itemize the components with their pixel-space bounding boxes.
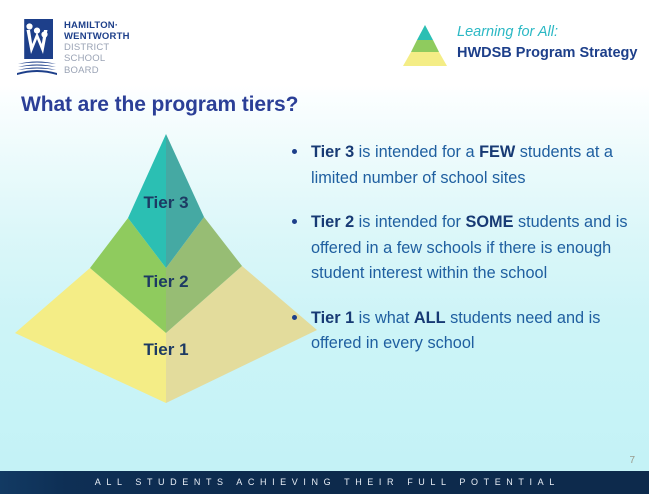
- list-item: Tier 2 is intended for SOME students and…: [288, 210, 640, 287]
- footer-bar: ALL STUDENTS ACHIEVING THEIR FULL POTENT…: [0, 471, 649, 494]
- footer-tagline: ALL STUDENTS ACHIEVING THEIR FULL POTENT…: [0, 471, 649, 494]
- bullet-dot-icon: [292, 149, 297, 154]
- pyramid-icon: [399, 23, 451, 69]
- bullet-emphasis: ALL: [414, 309, 446, 327]
- bullet-dot-icon: [292, 219, 297, 224]
- tier-3-label: Tier 3: [143, 193, 188, 212]
- tier-2-label: Tier 2: [143, 272, 188, 291]
- bullet-text-1: is intended for a: [354, 143, 479, 161]
- logo-sub-line-3: BOARD: [64, 66, 214, 76]
- tier-description-list: Tier 3 is intended for a FEW students at…: [288, 140, 640, 376]
- hwdsb-logo-wordmark: HAMILTON· WENTWORTH DISTRICT SCHOOL BOAR…: [64, 21, 214, 76]
- logo-sub-line-2: SCHOOL: [64, 54, 214, 64]
- slide-number: 7: [629, 455, 635, 466]
- list-item: Tier 3 is intended for a FEW students at…: [288, 140, 640, 191]
- bullet-text-1: is what: [354, 309, 414, 327]
- program-strategy-brand: Learning for All: HWDSB Program Strategy: [399, 20, 639, 74]
- brand-text: Learning for All: HWDSB Program Strategy: [457, 22, 637, 64]
- hwdsb-logo: HAMILTON· WENTWORTH DISTRICT SCHOOL BOAR…: [16, 18, 216, 76]
- brand-tagline: Learning for All:: [457, 22, 637, 43]
- logo-name-line-2: WENTWORTH: [64, 32, 214, 43]
- page-title: What are the program tiers?: [21, 93, 298, 117]
- bullet-emphasis: SOME: [465, 213, 513, 231]
- bullet-dot-icon: [292, 315, 297, 320]
- logo-name-line-1: HAMILTON·: [64, 21, 214, 32]
- bullet-text-1: is intended for: [354, 213, 465, 231]
- bullet-emphasis: FEW: [479, 143, 515, 161]
- slide-canvas: HAMILTON· WENTWORTH DISTRICT SCHOOL BOAR…: [0, 0, 649, 494]
- hwdsb-crest-icon: [16, 18, 58, 76]
- tier-1-label: Tier 1: [143, 340, 188, 359]
- logo-sub-line-1: DISTRICT: [64, 43, 214, 53]
- slide-header: HAMILTON· WENTWORTH DISTRICT SCHOOL BOAR…: [0, 0, 649, 86]
- bullet-lead: Tier 1: [311, 309, 354, 327]
- bullet-lead: Tier 3: [311, 143, 354, 161]
- bullet-lead: Tier 2: [311, 213, 354, 231]
- list-item: Tier 1 is what ALL students need and is …: [288, 306, 640, 357]
- brand-title: HWDSB Program Strategy: [457, 43, 637, 64]
